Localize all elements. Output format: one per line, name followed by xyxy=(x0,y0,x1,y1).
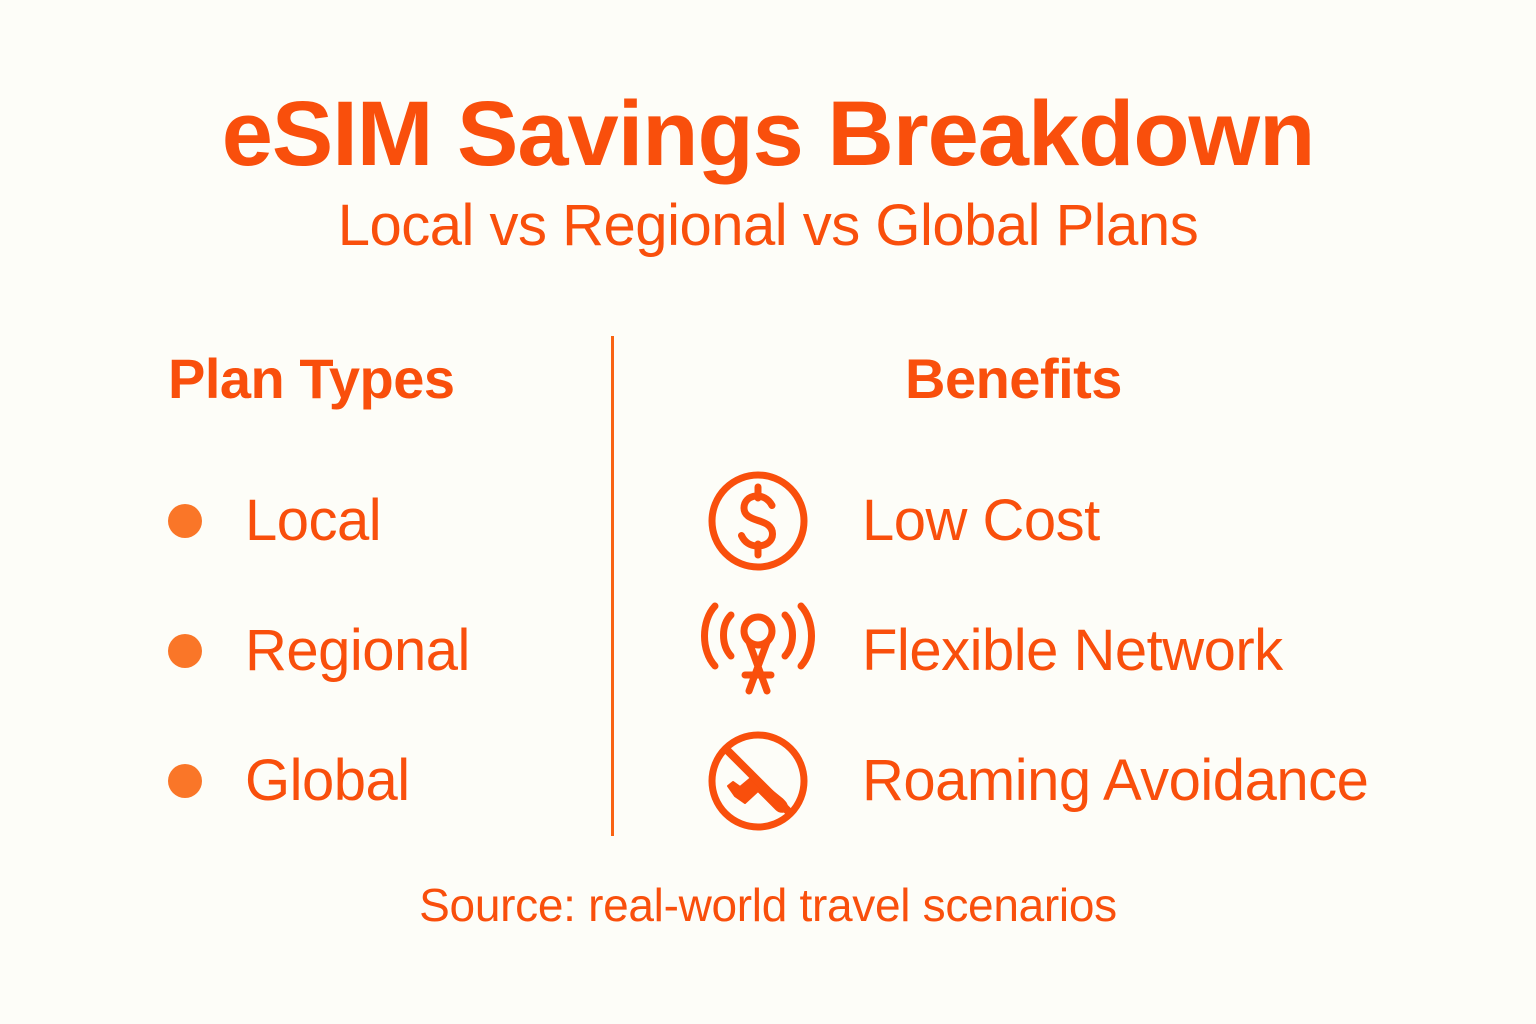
list-item[interactable]: Regional xyxy=(0,586,470,716)
list-item[interactable]: Low Cost xyxy=(614,456,1368,586)
poster-canvas: eSIM Savings Breakdown Local vs Regional… xyxy=(0,0,1536,1024)
benefits-list: Low Cost xyxy=(614,456,1368,846)
plan-type-label: Local xyxy=(245,492,381,550)
plan-type-label: Global xyxy=(245,752,410,810)
source-note: Source: real-world travel scenarios xyxy=(0,878,1536,932)
plan-types-column: Plan Types Local Regional Global xyxy=(0,336,611,836)
benefit-label: Low Cost xyxy=(862,492,1100,550)
list-item[interactable]: Flexible Network xyxy=(614,586,1368,716)
antenna-signal-icon xyxy=(698,591,818,711)
benefits-heading: Benefits xyxy=(905,346,1122,411)
page-title: eSIM Savings Breakdown xyxy=(0,88,1536,182)
dot-bullet-icon xyxy=(168,764,202,798)
list-item[interactable]: Roaming Avoidance xyxy=(614,716,1368,846)
plan-type-label: Regional xyxy=(245,622,470,680)
dot-bullet-icon xyxy=(168,634,202,668)
benefits-column: Benefits Low Cost xyxy=(614,336,1536,836)
benefit-label: Roaming Avoidance xyxy=(862,752,1368,810)
header: eSIM Savings Breakdown Local vs Regional… xyxy=(0,88,1536,257)
dot-bullet-icon xyxy=(168,504,202,538)
list-item[interactable]: Global xyxy=(0,716,470,846)
dollar-circle-icon xyxy=(698,461,818,581)
benefit-label: Flexible Network xyxy=(862,622,1283,680)
page-subtitle: Local vs Regional vs Global Plans xyxy=(0,196,1536,257)
no-roaming-plane-icon xyxy=(698,721,818,841)
content-columns: Plan Types Local Regional Global Benefit… xyxy=(0,336,1536,836)
list-item[interactable]: Local xyxy=(0,456,470,586)
plan-types-heading: Plan Types xyxy=(168,346,455,411)
plan-types-list: Local Regional Global xyxy=(0,456,470,846)
